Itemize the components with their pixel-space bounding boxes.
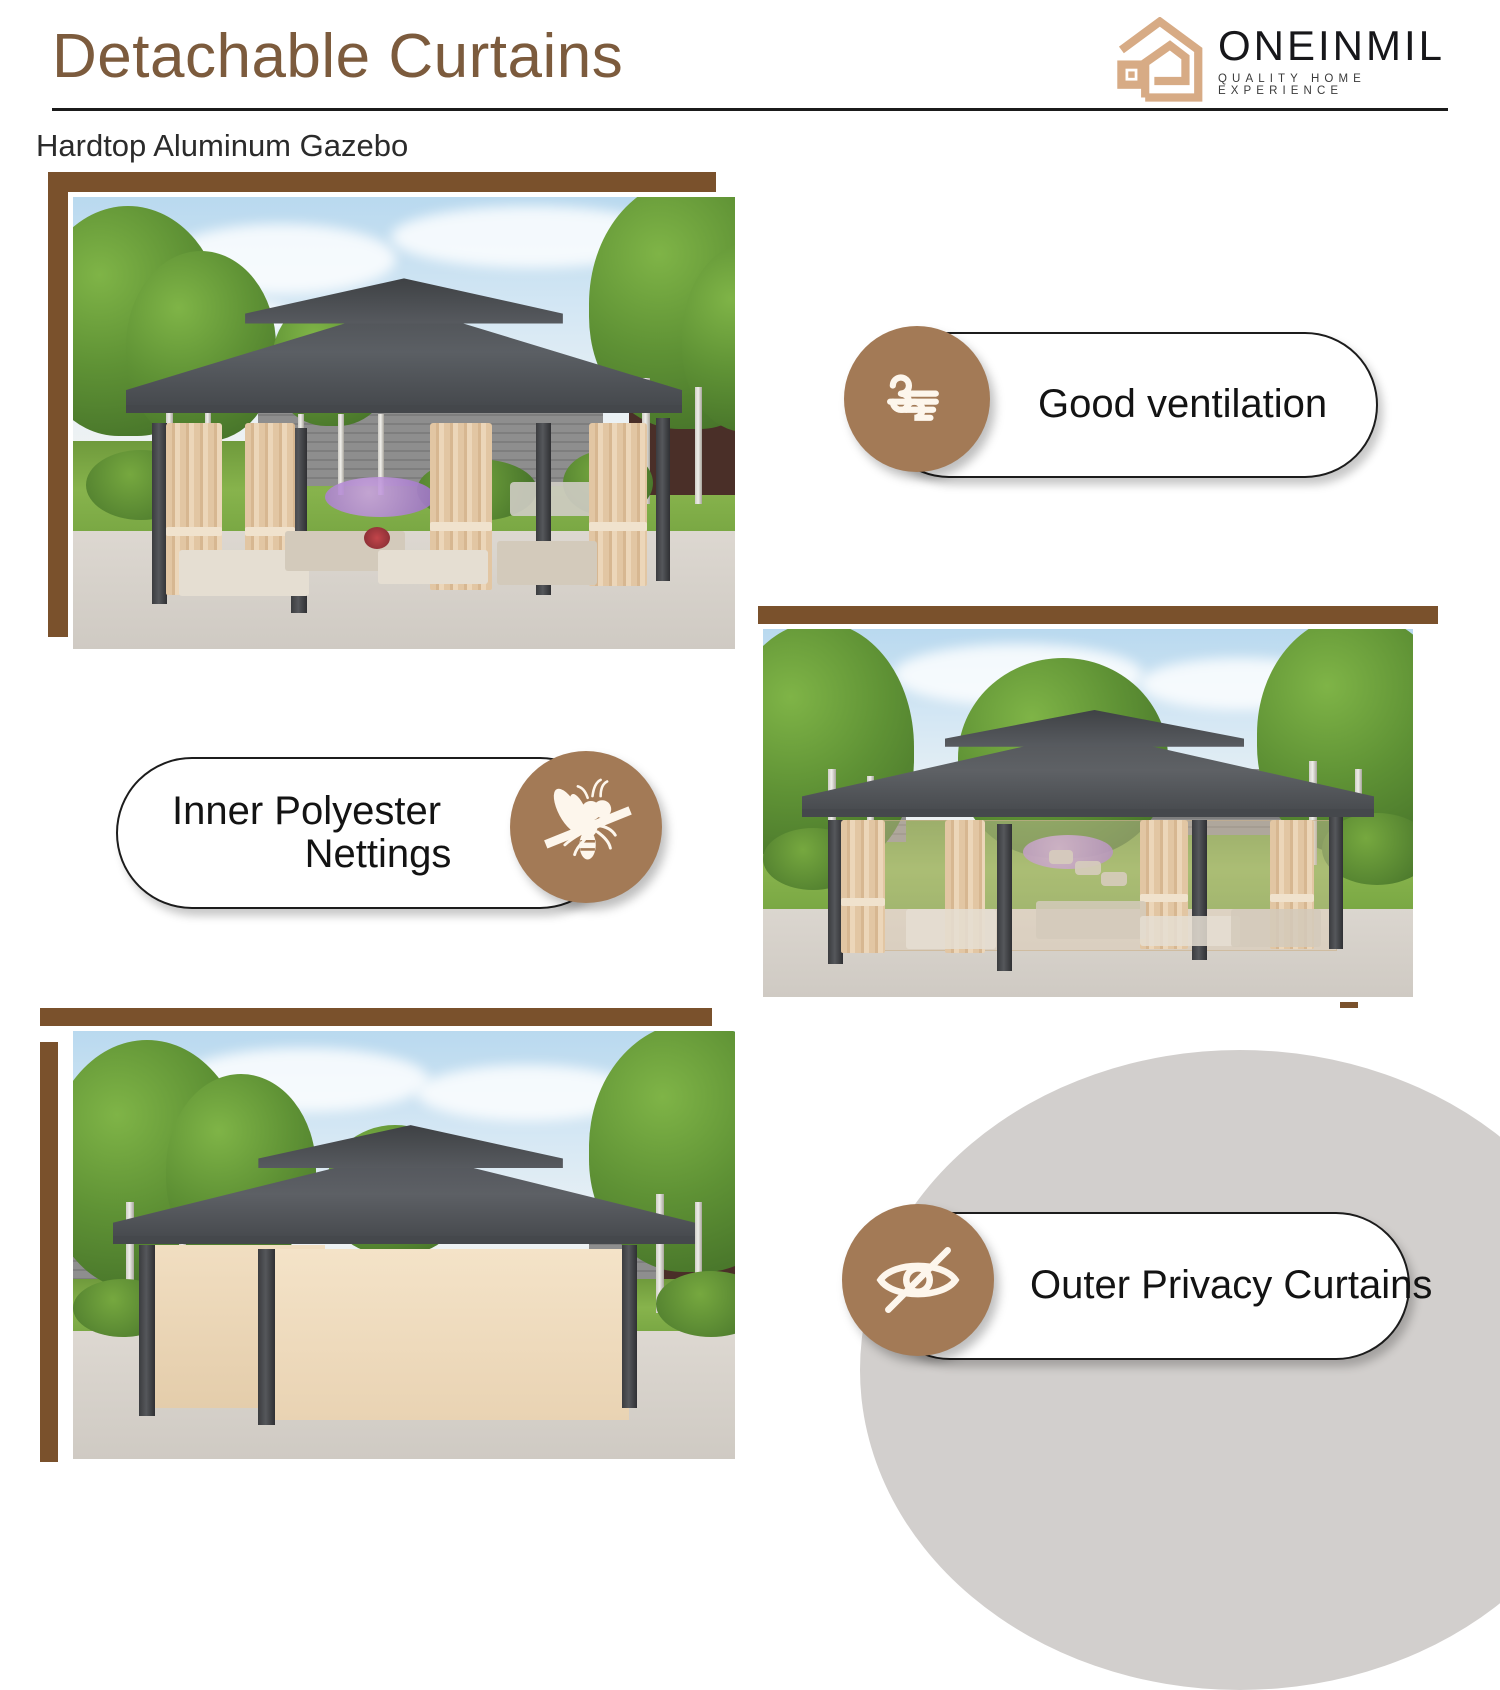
ventilation-label: Good ventilation: [1038, 383, 1327, 426]
page-title: Detachable Curtains: [52, 24, 623, 89]
frame-bar-top: [40, 1008, 712, 1026]
product-photo-privacy-closed: [68, 1026, 740, 1464]
brand-name: ONEINMIL: [1218, 25, 1457, 67]
header-divider: [52, 108, 1448, 111]
feature-badge-netting[interactable]: Inner Polyester Nettings: [110, 745, 690, 925]
privacy-label: Outer Privacy Curtains: [1030, 1264, 1432, 1307]
feature-badge-privacy[interactable]: Outer Privacy Curtains: [840, 1200, 1420, 1380]
brand-logo: ONEINMIL QUALITY HOME EXPERIENCE: [1112, 16, 1457, 104]
product-photo-netting-closed: [758, 624, 1418, 1002]
product-photo-curtains-open: [68, 192, 740, 654]
photo-card-netting-closed: [740, 590, 1500, 1070]
frame-bar-left: [48, 172, 68, 637]
eye-off-icon: [842, 1204, 994, 1356]
page-subtitle: Hardtop Aluminum Gazebo: [36, 128, 408, 164]
brand-tagline: QUALITY HOME EXPERIENCE: [1218, 74, 1457, 97]
feature-badge-ventilation[interactable]: Good ventilation: [840, 320, 1400, 500]
house-outline-icon: [1112, 17, 1204, 103]
frame-bar-top: [48, 172, 716, 192]
netting-label-line2: Nettings: [305, 833, 482, 876]
netting-label-line1: Inner Polyester: [172, 790, 441, 833]
frame-bar-top: [758, 606, 1438, 624]
brand-logo-text: ONEINMIL QUALITY HOME EXPERIENCE: [1218, 23, 1457, 97]
wind-icon: [844, 326, 990, 472]
no-mosquito-icon: [510, 751, 662, 903]
frame-bar-left: [40, 1042, 58, 1462]
photo-card-privacy-closed: [0, 990, 780, 1490]
page-header: Detachable Curtains Hardtop Aluminum Gaz…: [0, 0, 1500, 170]
